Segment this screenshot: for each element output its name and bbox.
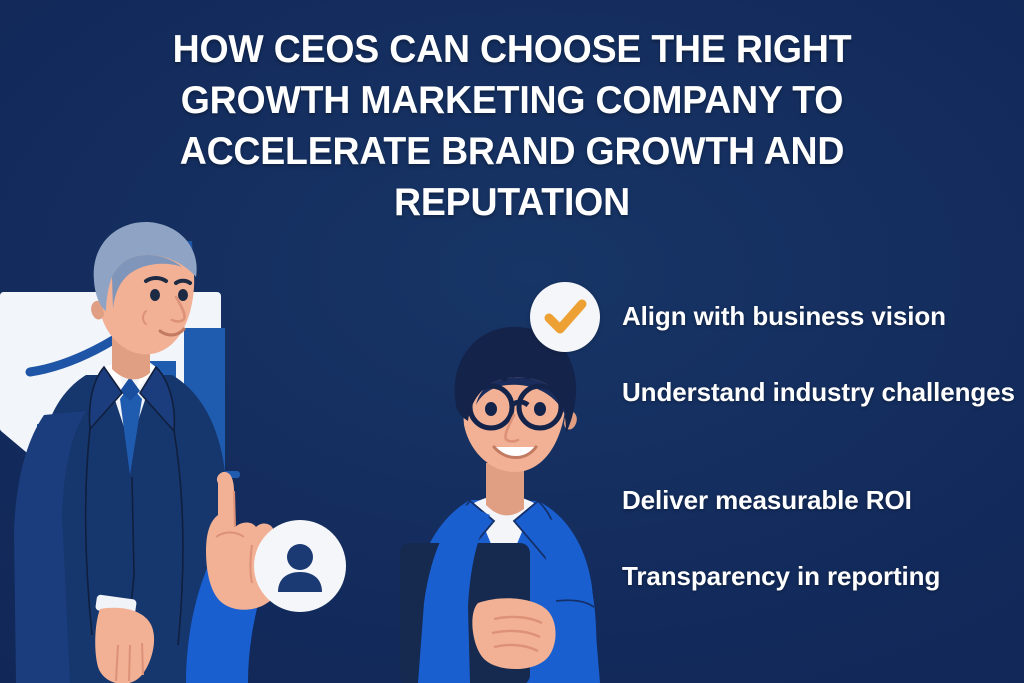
page-title: HOW CEOs CAN CHOOSE THE RIGHT GROWTH MAR… [128,24,896,228]
infographic-canvas: HOW CEOs CAN CHOOSE THE RIGHT GROWTH MAR… [0,0,1024,683]
check-circle-icon [530,282,600,352]
list-item-label: Align with business vision [622,282,946,333]
list-item[interactable]: Transparency in reporting [530,560,940,593]
list-item-label: Transparency in reporting [622,560,940,593]
list-item-label: Understand industry challenges [622,376,1015,409]
marketer-hand [472,598,555,669]
list-item[interactable]: Deliver measurable ROI [530,484,912,517]
list-item[interactable]: Align with business vision [530,282,946,352]
list-item-label: Deliver measurable ROI [622,484,912,517]
bullet-icon-slot [530,282,622,352]
user-avatar-badge [254,520,346,612]
list-item[interactable]: Understand industry challenges [530,376,1015,409]
